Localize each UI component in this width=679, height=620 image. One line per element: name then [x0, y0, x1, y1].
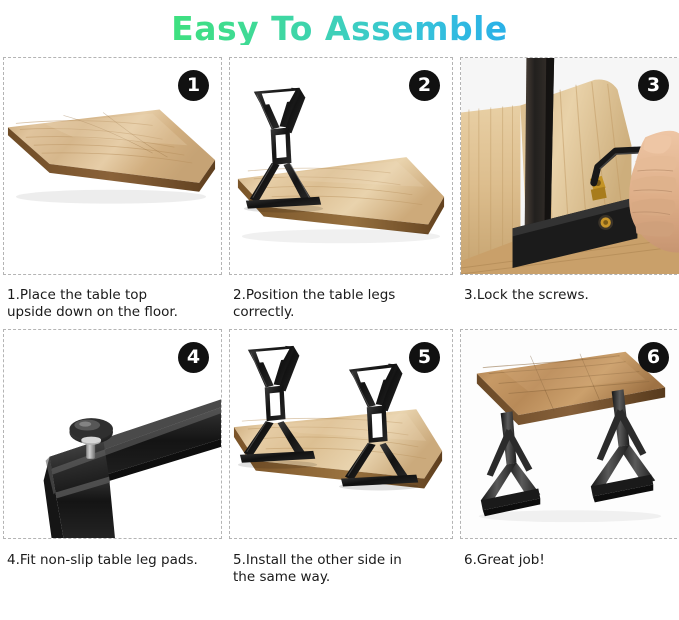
step-badge-4: 4: [178, 342, 209, 373]
step-6-caption: 6.Great job!: [460, 539, 679, 593]
step-1-caption: 1.Place the table top upside down on the…: [3, 275, 222, 329]
step-5-install-other-side-illustration: 5: [229, 329, 453, 539]
step-4-leg-pads-illustration: 4: [3, 329, 222, 539]
step-cell-2: 2: [229, 57, 453, 329]
step-badge-3: 3: [638, 70, 669, 101]
step-5-caption: 5.Install the other side in the same way…: [229, 539, 453, 593]
step-cell-4: 4: [3, 329, 222, 593]
step-6-finished-table-illustration: 6: [460, 329, 679, 539]
step-3-lock-screws-illustration: 3: [460, 57, 679, 275]
step-cell-1: 1: [3, 57, 222, 329]
step-cell-5: 5: [229, 329, 453, 593]
step-badge-6: 6: [638, 342, 669, 373]
step-1-table-top-illustration: 1: [3, 57, 222, 275]
page-title: Easy To Assemble: [171, 12, 508, 45]
step-3-caption: 3.Lock the screws.: [460, 275, 679, 329]
step-badge-2: 2: [409, 70, 440, 101]
step-cell-6: 6: [460, 329, 679, 593]
step-4-caption: 4.Fit non-slip table leg pads.: [3, 539, 222, 593]
assembly-steps-grid: 1: [0, 57, 679, 593]
step-2-position-legs-illustration: 2: [229, 57, 453, 275]
title-bar: Easy To Assemble: [0, 0, 679, 57]
step-badge-1: 1: [178, 70, 209, 101]
step-cell-3: 3: [460, 57, 679, 329]
step-badge-5: 5: [409, 342, 440, 373]
step-2-caption: 2.Position the table legs correctly.: [229, 275, 453, 329]
